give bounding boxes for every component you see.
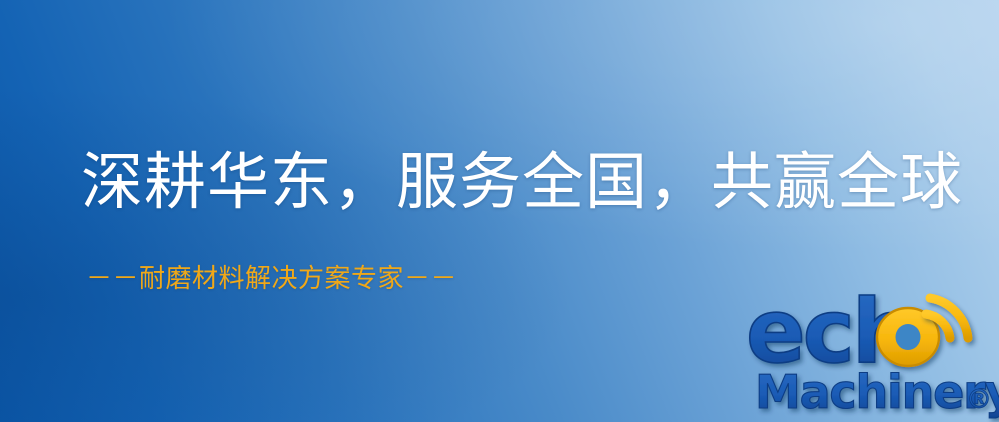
- logo-machinery-text: Machinery ®: [755, 365, 999, 419]
- banner-subtitle: －－耐磨材料解决方案专家－－: [86, 266, 457, 292]
- banner-headline: 深耕华东，服务全国，共赢全球: [81, 152, 963, 214]
- hero-banner: 深耕华东，服务全国，共赢全球 －－耐磨材料解决方案专家－－: [0, 0, 999, 422]
- svg-text:Machinery: Machinery: [755, 365, 999, 419]
- echo-machinery-logo: ech Machinery ®: [746, 296, 996, 420]
- svg-text:®: ®: [966, 385, 992, 415]
